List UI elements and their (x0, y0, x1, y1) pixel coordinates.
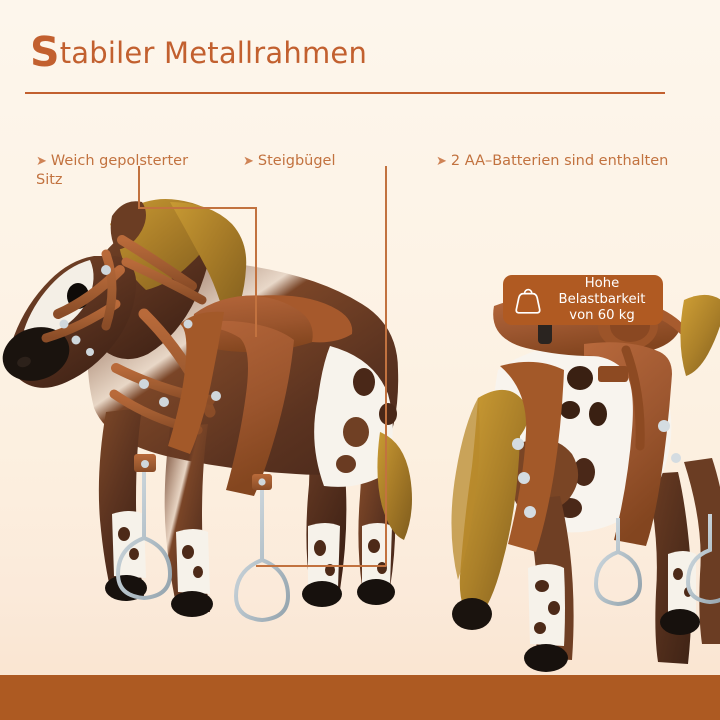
bottom-bar (0, 675, 720, 720)
arrow-bullet-icon: ➤ (36, 154, 46, 169)
product-feature-panel: Stabiler Metallrahmen ➤Weich gepolsterte… (0, 0, 720, 720)
arrow-bullet-icon: ➤ (243, 154, 253, 169)
page-title: Stabiler Metallrahmen (30, 36, 367, 70)
main-horse-image (0, 196, 434, 656)
detail-horse-image (432, 292, 720, 680)
callout-stirrup-label: Steigbügel (258, 153, 336, 169)
callout-battery-label: 2 AA–Batterien sind enthalten (451, 153, 668, 169)
callout-seat: ➤Weich gepolsterter Sitz (36, 133, 226, 190)
leader-line-battery-vertical (385, 166, 387, 566)
callout-seat-label: Weich gepolsterter Sitz (36, 153, 188, 188)
leader-line-battery-horizontal (256, 565, 386, 567)
load-capacity-label: Hohe Belastbarkeit von 60 kg (551, 276, 653, 324)
callout-battery: ➤2 AA–Batterien sind enthalten (436, 133, 720, 171)
leader-line-seat-drop (255, 207, 257, 337)
title-rest: tabiler Metallrahmen (60, 36, 367, 70)
title-initial: S (30, 28, 60, 76)
arrow-bullet-icon: ➤ (436, 154, 446, 169)
load-capacity-badge: Hohe Belastbarkeit von 60 kg (503, 275, 663, 325)
leader-line-seat-vertical (138, 166, 140, 209)
leader-line-seat-horizontal (138, 207, 257, 209)
title-divider (25, 92, 665, 94)
callout-stirrup: ➤Steigbügel (243, 133, 413, 171)
weight-icon (513, 284, 543, 316)
